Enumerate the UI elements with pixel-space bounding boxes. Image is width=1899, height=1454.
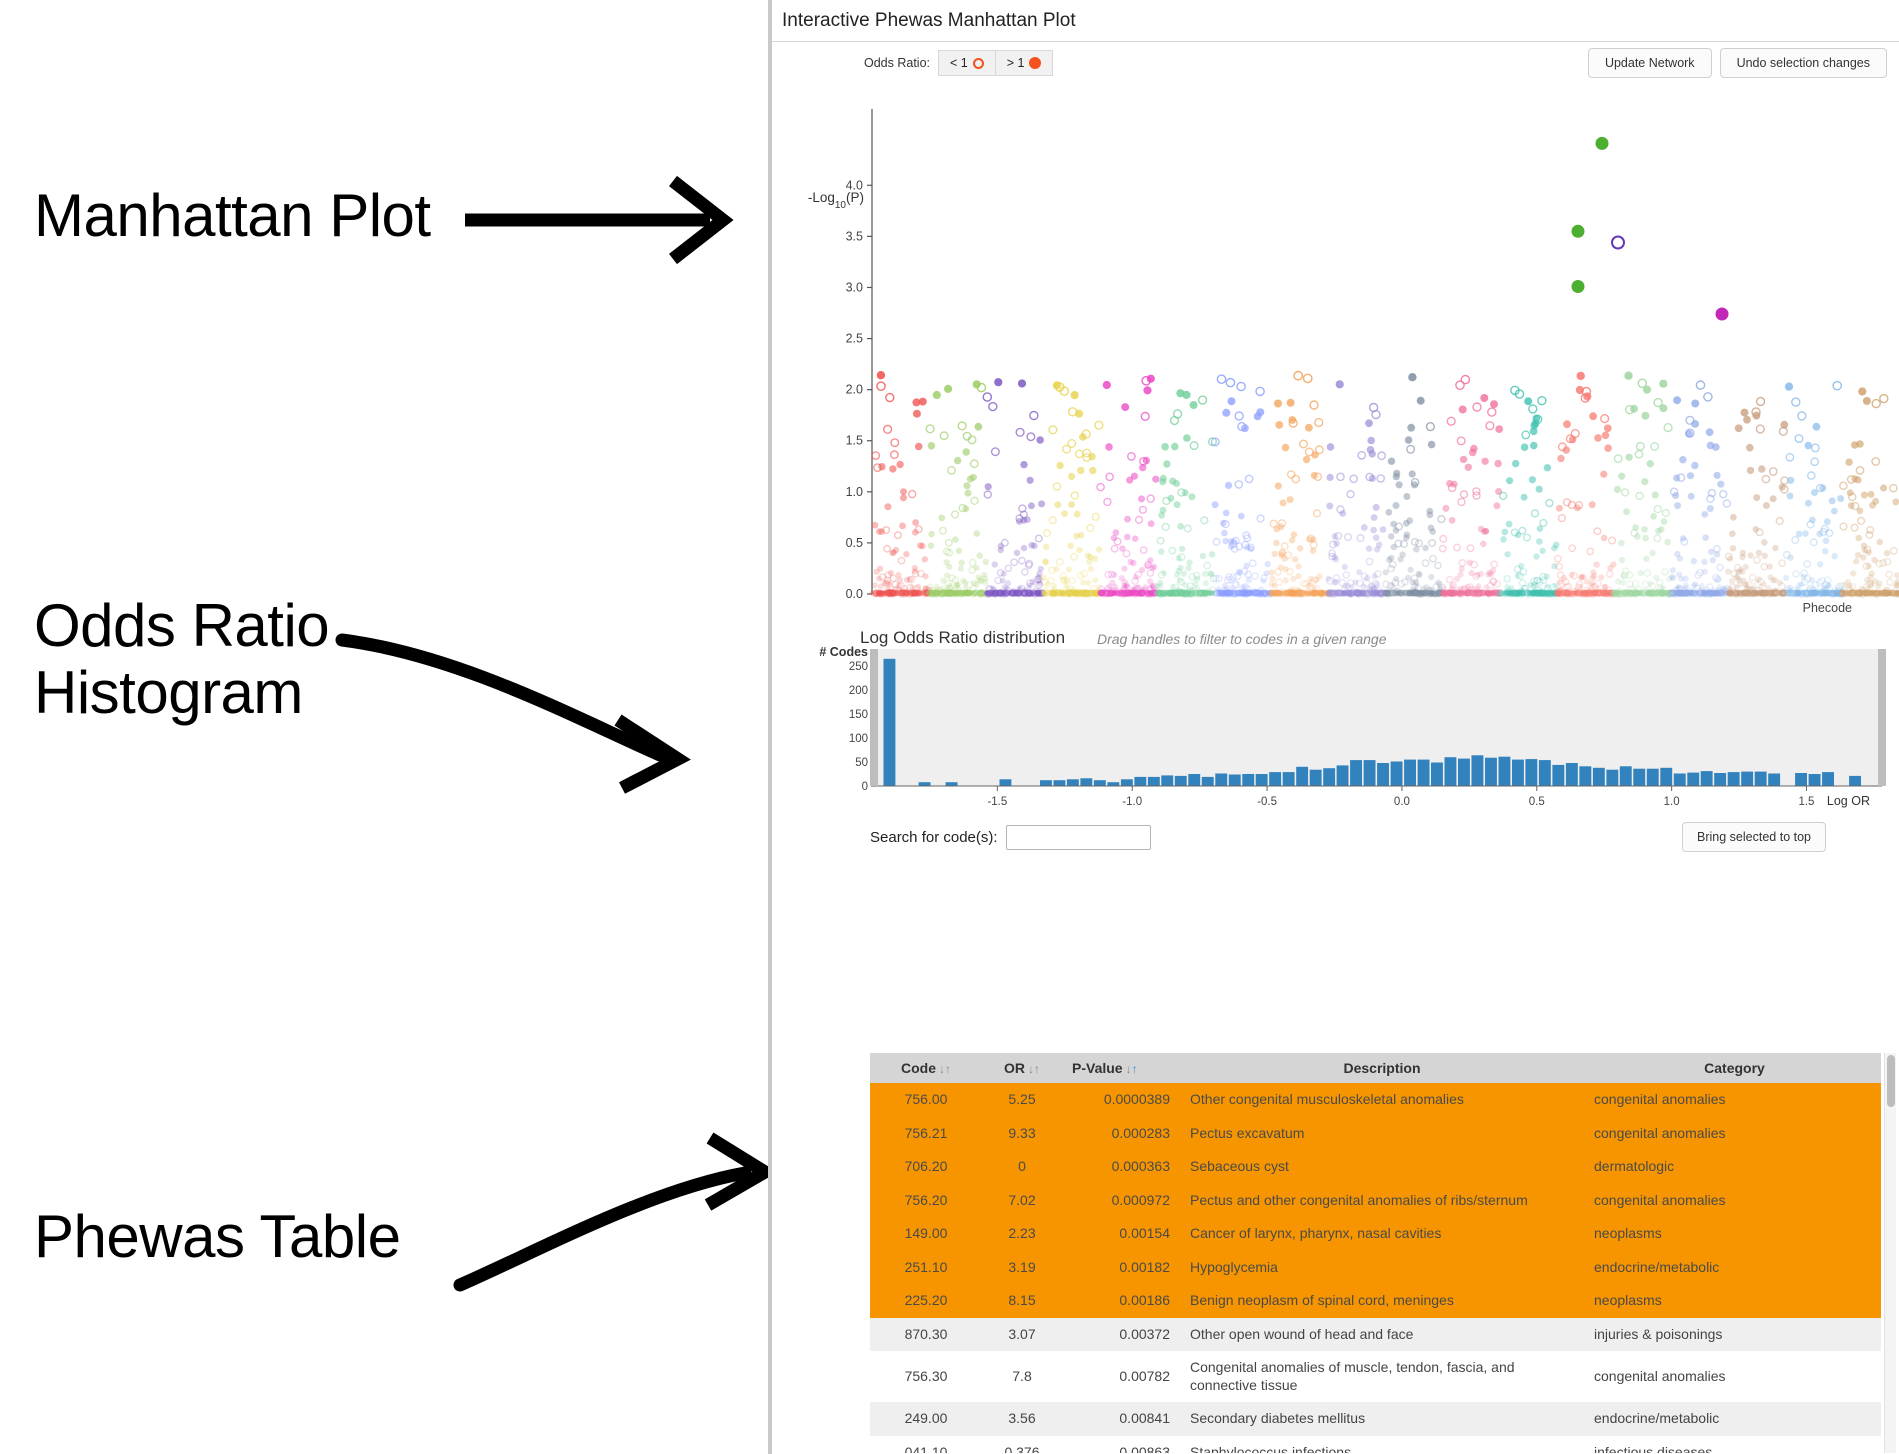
cell-pvalue: 0.000363 (1062, 1150, 1180, 1184)
search-label: Search for code(s): (870, 829, 998, 846)
update-network-button[interactable]: Update Network (1588, 48, 1712, 78)
phewas-table-container[interactable]: Code↓↑ OR↓↑ P-Value↓↑ Description Catego… (870, 1053, 1896, 1453)
annotation-arrow-table-icon (420, 1110, 800, 1310)
svg-text:0.5: 0.5 (1529, 796, 1545, 808)
cell-pvalue: 0.000283 (1062, 1117, 1180, 1151)
cell-code: 870.30 (870, 1318, 982, 1352)
cell-or: 5.25 (982, 1083, 1062, 1117)
odds-ratio-legend: Odds Ratio: < 1 > 1 (864, 50, 1053, 76)
table-header-row: Code↓↑ OR↓↑ P-Value↓↑ Description Catego… (870, 1053, 1881, 1083)
cell-code: 041.10 (870, 1436, 982, 1454)
cell-or: 7.02 (982, 1184, 1062, 1218)
cell-code: 756.21 (870, 1117, 982, 1151)
page-title: Interactive Phewas Manhattan Plot (782, 10, 1076, 32)
sort-icon-pvalue[interactable]: ↓↑ (1126, 1062, 1138, 1076)
table-row[interactable]: 249.003.560.00841Secondary diabetes mell… (870, 1402, 1881, 1436)
column-header-or[interactable]: OR↓↑ (982, 1053, 1062, 1083)
cell-code: 756.20 (870, 1184, 982, 1218)
cell-code: 706.20 (870, 1150, 982, 1184)
cell-category: endocrine/metabolic (1580, 1402, 1881, 1436)
table-row[interactable]: 041.100.3760.00863Staphylococcus infecti… (870, 1436, 1881, 1454)
cell-category: congenital anomalies (1580, 1351, 1881, 1402)
cell-description: Congenital anomalies of muscle, tendon, … (1180, 1351, 1580, 1402)
cell-description: Sebaceous cyst (1180, 1150, 1580, 1184)
cell-pvalue: 0.000972 (1062, 1184, 1180, 1218)
svg-text:1.0: 1.0 (1664, 796, 1680, 808)
cell-pvalue: 0.00182 (1062, 1251, 1180, 1285)
app-titlebar: Interactive Phewas Manhattan Plot (772, 0, 1899, 42)
column-header-description-label: Description (1343, 1060, 1420, 1076)
column-header-category-label: Category (1704, 1060, 1765, 1076)
odds-ratio-greater-than-one-toggle[interactable]: > 1 (996, 50, 1054, 76)
odds-ratio-less-than-one-toggle[interactable]: < 1 (938, 50, 996, 76)
cell-category: neoplasms (1580, 1284, 1881, 1318)
cell-pvalue: 0.00372 (1062, 1318, 1180, 1352)
table-row[interactable]: 149.002.230.00154Cancer of larynx, phary… (870, 1217, 1881, 1251)
table-row[interactable]: 756.005.250.0000389Other congenital musc… (870, 1083, 1881, 1117)
manhattan-y-axis: 0.00.51.01.52.02.53.03.54.0 (846, 109, 872, 601)
annotation-label-phewas-table: Phewas Table (34, 1203, 400, 1270)
annotation-label-manhattan-plot: Manhattan Plot (34, 182, 431, 249)
svg-text:1.5: 1.5 (846, 434, 863, 448)
svg-text:2.5: 2.5 (846, 332, 863, 346)
table-row[interactable]: 756.307.80.00782Congenital anomalies of … (870, 1351, 1881, 1402)
svg-text:1.0: 1.0 (846, 485, 863, 499)
svg-text:Log OR: Log OR (1827, 794, 1870, 808)
table-row[interactable]: 756.207.020.000972Pectus and other conge… (870, 1184, 1881, 1218)
column-header-code[interactable]: Code↓↑ (870, 1053, 982, 1083)
cell-pvalue: 0.00863 (1062, 1436, 1180, 1454)
odds-ratio-lt-label: < 1 (950, 56, 968, 70)
cell-or: 0.376 (982, 1436, 1062, 1454)
open-circle-icon (973, 58, 984, 69)
svg-text:3.5: 3.5 (846, 229, 863, 243)
undo-selection-changes-button[interactable]: Undo selection changes (1720, 48, 1887, 78)
manhattan-plot-panel[interactable]: 0.00.51.01.52.02.53.03.54.0 Phecode -Log… (772, 84, 1899, 624)
cell-category: neoplasms (1580, 1217, 1881, 1251)
log-odds-ratio-histogram-panel[interactable]: Log Odds Ratio distribution Drag handles… (772, 624, 1899, 814)
cell-or: 3.07 (982, 1318, 1062, 1352)
annotation-label-odds-ratio-histogram: Odds Ratio Histogram (34, 592, 329, 726)
column-header-category[interactable]: Category (1580, 1053, 1881, 1083)
histogram-title: Log Odds Ratio distribution (860, 628, 1065, 648)
svg-text:0.0: 0.0 (846, 587, 863, 601)
svg-text:2.0: 2.0 (846, 383, 863, 397)
cell-category: dermatologic (1580, 1150, 1881, 1184)
cell-or: 9.33 (982, 1117, 1062, 1151)
cell-pvalue: 0.00154 (1062, 1217, 1180, 1251)
cell-pvalue: 0.00841 (1062, 1402, 1180, 1436)
cell-code: 756.00 (870, 1083, 982, 1117)
table-row[interactable]: 706.2000.000363Sebaceous cystdermatologi… (870, 1150, 1881, 1184)
cell-description: Cancer of larynx, pharynx, nasal cavitie… (1180, 1217, 1580, 1251)
search-input[interactable] (1006, 825, 1151, 850)
cell-description: Staphylococcus infections (1180, 1436, 1580, 1454)
histogram-hint: Drag handles to filter to codes in a giv… (1097, 631, 1387, 647)
svg-text:4.0: 4.0 (846, 178, 863, 192)
cell-category: injuries & poisonings (1580, 1318, 1881, 1352)
cell-code: 756.30 (870, 1351, 982, 1402)
cell-code: 225.20 (870, 1284, 982, 1318)
cell-description: Pectus and other congenital anomalies of… (1180, 1184, 1580, 1218)
bring-selected-to-top-button[interactable]: Bring selected to top (1682, 822, 1826, 852)
cell-or: 7.8 (982, 1351, 1062, 1402)
phewas-app: Interactive Phewas Manhattan Plot Odds R… (772, 0, 1899, 1454)
svg-text:50: 50 (855, 757, 868, 769)
sort-icon-or[interactable]: ↓↑ (1028, 1062, 1040, 1076)
cell-category: congenital anomalies (1580, 1184, 1881, 1218)
cell-description: Other open wound of head and face (1180, 1318, 1580, 1352)
manhattan-x-axis-label: Phecode (1803, 601, 1852, 615)
svg-text:3.0: 3.0 (846, 280, 863, 294)
plot-toolbar: Odds Ratio: < 1 > 1 Update Network Undo … (772, 42, 1899, 84)
cell-description: Pectus excavatum (1180, 1117, 1580, 1151)
svg-text:0.5: 0.5 (846, 536, 863, 550)
svg-text:150: 150 (849, 709, 868, 721)
cell-description: Other congenital musculoskeletal anomali… (1180, 1083, 1580, 1117)
annotation-arrow-histogram-icon (330, 620, 760, 810)
manhattan-scatter-points[interactable] (870, 137, 1899, 597)
annotation-arrow-manhattan-icon (455, 175, 785, 265)
cell-or: 3.19 (982, 1251, 1062, 1285)
sort-icon-code[interactable]: ↓↑ (939, 1062, 951, 1076)
histogram-svg[interactable]: 050100150200250# Codes-1.5-1.0-0.50.00.5… (772, 646, 1899, 814)
cell-or: 8.15 (982, 1284, 1062, 1318)
filled-circle-icon (1029, 57, 1041, 69)
svg-text:100: 100 (849, 733, 868, 745)
cell-category: endocrine/metabolic (1580, 1251, 1881, 1285)
svg-text:-1.0: -1.0 (1122, 796, 1142, 808)
cell-description: Benign neoplasm of spinal cord, meninges (1180, 1284, 1580, 1318)
annotation-overlay-panel: Manhattan Plot Odds Ratio Histogram Phew… (0, 0, 770, 1454)
svg-text:-1.5: -1.5 (987, 796, 1007, 808)
svg-text:0.0: 0.0 (1394, 796, 1410, 808)
cell-or: 0 (982, 1150, 1062, 1184)
toolbar-actions: Update Network Undo selection changes (1588, 48, 1887, 78)
manhattan-plot-svg[interactable]: 0.00.51.01.52.02.53.03.54.0 Phecode (772, 84, 1899, 624)
cell-code: 251.10 (870, 1251, 982, 1285)
table-row[interactable]: 870.303.070.00372Other open wound of hea… (870, 1318, 1881, 1352)
cell-code: 249.00 (870, 1402, 982, 1436)
table-scrollbar-thumb[interactable] (1887, 1055, 1895, 1107)
table-row[interactable]: 251.103.190.00182Hypoglycemiaendocrine/m… (870, 1251, 1881, 1285)
table-row[interactable]: 756.219.330.000283Pectus excavatumcongen… (870, 1117, 1881, 1151)
cell-pvalue: 0.00186 (1062, 1284, 1180, 1318)
svg-text:1.5: 1.5 (1798, 796, 1814, 808)
svg-text:0: 0 (862, 781, 868, 793)
table-row[interactable]: 225.208.150.00186Benign neoplasm of spin… (870, 1284, 1881, 1318)
table-scrollbar[interactable] (1884, 1053, 1896, 1453)
cell-description: Hypoglycemia (1180, 1251, 1580, 1285)
svg-text:200: 200 (849, 685, 868, 697)
column-header-pvalue-label: P-Value (1072, 1060, 1123, 1076)
phewas-table-head: Code↓↑ OR↓↑ P-Value↓↑ Description Catego… (870, 1053, 1881, 1083)
odds-ratio-gt-label: > 1 (1007, 56, 1025, 70)
cell-or: 2.23 (982, 1217, 1062, 1251)
odds-ratio-legend-label: Odds Ratio: (864, 56, 930, 70)
cell-code: 149.00 (870, 1217, 982, 1251)
phewas-table-body[interactable]: 756.005.250.0000389Other congenital musc… (870, 1083, 1881, 1453)
cell-category: infectious diseases (1580, 1436, 1881, 1454)
cell-category: congenital anomalies (1580, 1117, 1881, 1151)
cell-description: Secondary diabetes mellitus (1180, 1402, 1580, 1436)
svg-text:250: 250 (849, 661, 868, 673)
phewas-table[interactable]: Code↓↑ OR↓↑ P-Value↓↑ Description Catego… (870, 1053, 1881, 1453)
table-search-row: Search for code(s): Bring selected to to… (772, 814, 1899, 860)
column-header-description[interactable]: Description (1180, 1053, 1580, 1083)
cell-or: 3.56 (982, 1402, 1062, 1436)
column-header-code-label: Code (901, 1060, 936, 1076)
cell-category: congenital anomalies (1580, 1083, 1881, 1117)
svg-text:-0.5: -0.5 (1257, 796, 1277, 808)
column-header-or-label: OR (1004, 1060, 1025, 1076)
cell-pvalue: 0.00782 (1062, 1351, 1180, 1402)
cell-pvalue: 0.0000389 (1062, 1083, 1180, 1117)
column-header-pvalue[interactable]: P-Value↓↑ (1062, 1053, 1180, 1083)
svg-text:# Codes: # Codes (819, 646, 868, 659)
